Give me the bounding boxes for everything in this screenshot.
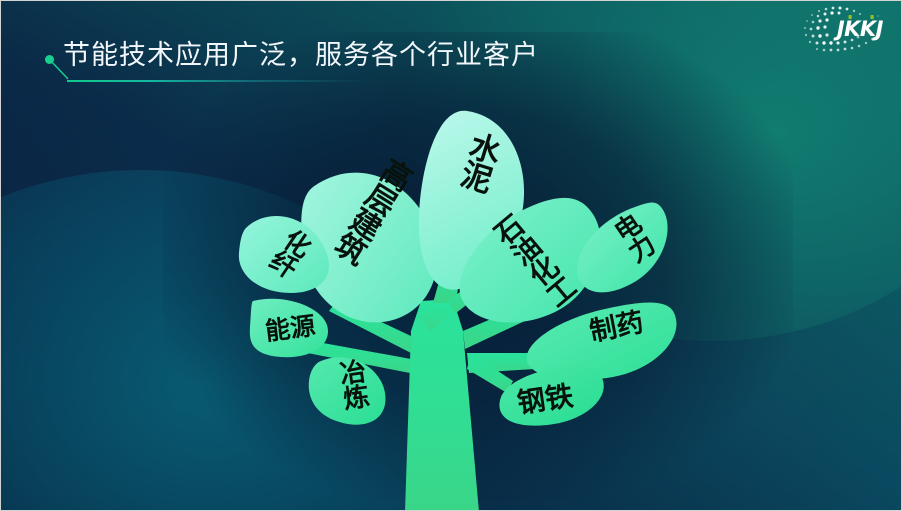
slide-canvas: 节能技术应用广泛，服务各个行业客户	[0, 0, 902, 511]
industry-tree-graphic: 化纤 高层建筑 水泥 石油化工 电力 能源 制药 冶炼 钢铁	[1, 1, 902, 511]
